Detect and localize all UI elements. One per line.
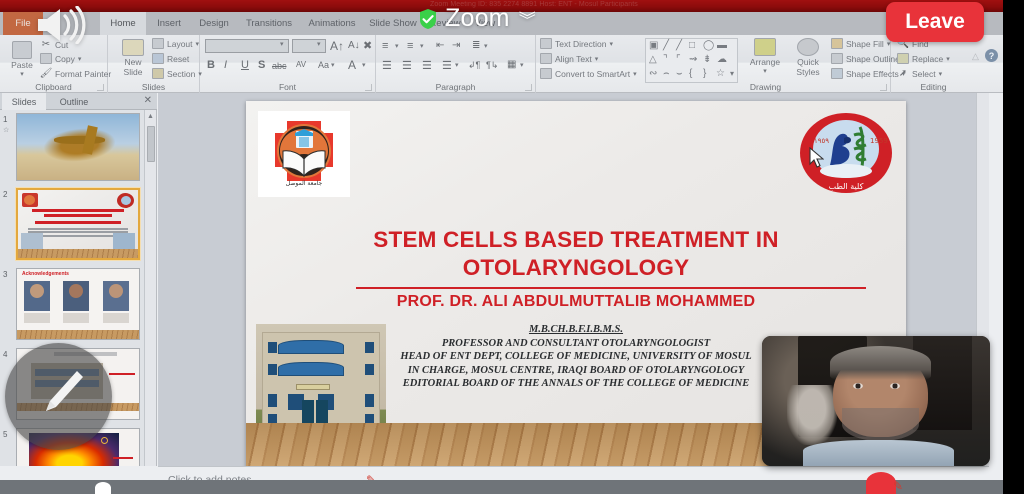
tab-outline[interactable]: Outline	[48, 93, 100, 110]
layout-icon	[152, 38, 164, 49]
arc-shape-icon[interactable]: ⌣	[676, 69, 683, 79]
paste-button[interactable]: Paste ▾	[6, 41, 38, 80]
pencil-icon	[33, 367, 85, 423]
select-button[interactable]: ➚ Select ▾	[897, 68, 942, 79]
scrollbar-thumb[interactable]	[147, 126, 155, 162]
star-icon: ☆	[3, 126, 9, 134]
shapes-more-icon[interactable]: ▾	[730, 69, 734, 79]
ribbon-group-drawing: ▣ ╱ ╱ □ ◯ ▬ △ ⌝ ⌜ ⇝ ⇟ ☁ ∾ ⌢ ⌣ { }	[641, 35, 891, 93]
paste-icon	[12, 41, 32, 59]
align-center-button[interactable]: ☰	[402, 59, 412, 72]
font-family-combo[interactable]	[205, 39, 289, 53]
textbox-shape-icon[interactable]: ▣	[649, 41, 658, 51]
convert-to-smartart-button[interactable]: Convert to SmartArt ▾	[540, 68, 637, 79]
group-label-slides: Slides	[108, 82, 199, 92]
slide-number: 2	[3, 190, 7, 199]
svg-text:كلية الطب: كلية الطب	[829, 182, 864, 191]
columns-caret-icon: ▾	[520, 61, 524, 69]
tab-slides[interactable]: Slides	[2, 93, 46, 110]
arrange-icon	[754, 38, 776, 56]
slide-title: STEM CELLS BASED TREATMENT IN OTOLARYNGO…	[286, 226, 866, 282]
paragraph-dialog-launcher[interactable]	[525, 84, 532, 91]
text-direction-caret-icon: ▾	[610, 40, 614, 48]
arrange-button[interactable]: Arrange ▾	[745, 38, 785, 77]
line-spacing-caret-icon: ▾	[484, 42, 488, 50]
font-size-caret-icon: ▾	[317, 40, 321, 48]
group-label-paragraph: Paragraph	[376, 82, 535, 92]
annotate-pen-icon[interactable]: ✎	[893, 479, 903, 493]
participant-video-thumbnail[interactable]	[762, 336, 990, 466]
shapes-gallery[interactable]: ▣ ╱ ╱ □ ◯ ▬ △ ⌝ ⌜ ⇝ ⇟ ☁ ∾ ⌢ ⌣ { }	[645, 38, 738, 83]
replace-button[interactable]: Replace ▾	[897, 53, 950, 64]
tab-insert[interactable]: Insert	[148, 12, 190, 35]
down-arrow-shape-icon[interactable]: ⇟	[703, 55, 711, 65]
ribbon-group-slides: New Slide Layout ▾ Reset Section ▾ S	[108, 35, 200, 93]
pane-tab-bar: Slides Outline ✕	[0, 93, 157, 110]
slide-number: 1	[3, 115, 7, 124]
layout-button[interactable]: Layout ▾	[152, 38, 199, 49]
zoom-share-indicator[interactable]: Zoom ︾	[418, 6, 536, 31]
tab-animations[interactable]: Animations	[302, 12, 362, 35]
elbow-connector2-icon[interactable]: ⌜	[676, 55, 681, 65]
group-label-editing: Editing	[891, 82, 976, 92]
list-item[interactable]: 2	[0, 188, 144, 264]
decrease-font-size-button[interactable]: A↓	[348, 40, 360, 51]
right-arrow-shape-icon[interactable]: ⇝	[689, 55, 697, 65]
right-brace-shape-icon[interactable]: }	[703, 69, 706, 79]
change-case-button[interactable]: Aa	[318, 60, 329, 70]
webcam-eye-right	[890, 383, 900, 389]
title-divider	[356, 287, 866, 289]
tab-design[interactable]: Design	[192, 12, 236, 35]
screen-letterbox-right	[1003, 0, 1024, 494]
line-spacing-button[interactable]: ≣	[472, 40, 480, 51]
font-color-caret-icon: ▾	[362, 61, 366, 69]
format-painter-button[interactable]: 🖌 Format Painter	[40, 68, 111, 79]
strikethrough-button[interactable]: abc	[272, 61, 287, 71]
thumbnail-slide-1[interactable]	[16, 113, 140, 181]
chevron-down-icon[interactable]: ︾	[519, 6, 536, 31]
italic-button[interactable]: I	[224, 59, 227, 71]
bold-button[interactable]: B	[207, 59, 215, 71]
freeform-shape-icon[interactable]: ∾	[649, 69, 657, 79]
select-caret-icon: ▾	[939, 70, 943, 78]
reset-icon	[152, 53, 164, 64]
numbering-caret-icon: ▾	[420, 42, 424, 50]
record-indicator	[866, 472, 896, 494]
copy-caret-icon: ▾	[78, 55, 82, 63]
line-shape-icon[interactable]: ╱	[663, 41, 669, 51]
list-item[interactable]: 3 Acknowledgements	[0, 268, 144, 344]
star-shape-icon[interactable]: ☆	[716, 69, 725, 79]
ribbon-group-editing: 🔍 Find Replace ▾ ➚ Select ▾ Editing	[891, 35, 976, 93]
svg-text:1959: 1959	[870, 137, 888, 145]
paintbrush-icon: 🖌	[40, 68, 52, 79]
group-label-drawing: Drawing	[641, 82, 890, 92]
slide-number: 5	[3, 430, 7, 439]
left-brace-shape-icon[interactable]: {	[689, 69, 692, 79]
minimize-ribbon-icon[interactable]: △	[972, 51, 981, 60]
increase-font-size-button[interactable]: A↑	[330, 39, 344, 53]
mouse-cursor	[809, 147, 824, 168]
close-icon[interactable]: ✕	[144, 95, 152, 106]
tab-slide-show[interactable]: Slide Show	[364, 12, 422, 35]
quick-styles-button[interactable]: Quick Styles	[789, 38, 827, 77]
webcam-shirt	[803, 440, 953, 466]
curve-shape-icon[interactable]: ⌢	[663, 69, 670, 79]
decrease-indent-button[interactable]: ⇤	[436, 40, 444, 51]
paste-caret-icon: ▾	[20, 70, 24, 80]
new-slide-icon	[122, 39, 144, 56]
copy-icon	[40, 53, 52, 64]
clipboard-dialog-launcher[interactable]	[97, 84, 104, 91]
slide-title-line1: STEM CELLS BASED TREATMENT IN	[286, 226, 866, 254]
section-button[interactable]: Section ▾	[152, 68, 202, 79]
character-spacing-button[interactable]: AV	[296, 60, 306, 69]
justify-caret-icon: ▾	[455, 61, 459, 69]
replace-icon	[897, 53, 909, 64]
font-dialog-launcher[interactable]	[365, 84, 372, 91]
text-direction-icon	[540, 38, 552, 49]
slide-author: PROF. DR. ALI ABDULMUTTALIB MOHAMMED	[276, 293, 876, 311]
rectangle-shape-icon[interactable]: □	[689, 41, 695, 51]
thumb2-art	[18, 190, 138, 258]
cursor-select-icon: ➚	[897, 68, 909, 79]
section-icon	[152, 68, 164, 79]
ribbon-group-font: ▾ ▾ A↑ A↓ ✖ B I U S abc AV Aa ▾ A ▾ Font	[200, 35, 376, 93]
slide-title-line2: OTOLARYNGOLOGY	[286, 254, 866, 282]
align-left-button[interactable]: ☰	[382, 59, 392, 72]
clear-formatting-icon[interactable]: ✖	[363, 39, 372, 52]
zoom-screen-share-window: Zoom Meeting ID: 835 2274 8891 Host: ENT…	[0, 0, 1024, 494]
svg-text:جامعة الموصل: جامعة الموصل	[286, 180, 323, 187]
new-slide-button[interactable]: New Slide	[116, 39, 150, 77]
shape-fill-icon	[831, 38, 843, 49]
ribbon-group-paragraph: ≡ ▾ ≡ ▾ ⇤ ⇥ ≣ ▾ ☰ ☰ ☰ ☰ ▾ ↲¶ ¶↳ ▦ ▾ Para…	[376, 35, 536, 93]
layout-caret-icon: ▾	[196, 40, 200, 48]
reset-button[interactable]: Reset	[152, 53, 189, 64]
webcam-eye-left	[853, 383, 863, 389]
thumbnail-pane-scrollbar[interactable]: ▲	[144, 110, 156, 466]
slide-number: 3	[3, 270, 7, 279]
group-label-font: Font	[200, 82, 375, 92]
thumb1-art	[17, 114, 139, 180]
underline-button[interactable]: U	[241, 59, 249, 71]
font-family-caret-icon: ▾	[280, 40, 284, 48]
elbow-connector-icon[interactable]: ⌝	[663, 55, 668, 65]
slide-number: 4	[3, 350, 7, 359]
align-text-caret-icon: ▾	[595, 55, 599, 63]
columns-button[interactable]: ▦	[507, 59, 516, 70]
magnifier-pencil-icon[interactable]	[5, 343, 112, 450]
group-label-clipboard: Clipboard	[0, 82, 107, 92]
increase-indent-button[interactable]: ⇥	[452, 40, 460, 51]
change-case-caret-icon: ▾	[331, 61, 335, 69]
tab-transitions[interactable]: Transitions	[238, 12, 300, 35]
smartart-icon	[540, 68, 552, 79]
tab-home[interactable]: Home	[100, 12, 146, 35]
rtl-direction-button[interactable]: ↲¶	[468, 60, 480, 71]
arrange-caret-icon: ▾	[763, 67, 767, 77]
thumbnail-slide-3[interactable]: Acknowledgements	[16, 268, 140, 340]
align-right-button[interactable]: ☰	[422, 59, 432, 72]
align-text-button[interactable]: Align Text ▾	[540, 53, 598, 64]
thumb3-heading: Acknowledgements	[22, 271, 69, 277]
cloud-shape-icon[interactable]: ☁	[717, 55, 727, 65]
shape-effects-icon	[831, 68, 843, 79]
text-direction-button[interactable]: Text Direction ▾	[540, 38, 613, 49]
svg-text:١٩٥٩: ١٩٥٩	[814, 137, 829, 145]
shield-check-icon	[418, 8, 438, 30]
quick-styles-icon	[797, 38, 819, 56]
bullets-button[interactable]: ≡	[382, 40, 388, 52]
oval-shape-icon[interactable]: ◯	[703, 41, 714, 51]
replace-caret-icon: ▾	[946, 55, 950, 63]
thumb3-art: Acknowledgements	[17, 269, 139, 339]
numbering-button[interactable]: ≡	[407, 40, 413, 52]
bullets-caret-icon: ▾	[395, 42, 399, 50]
university-of-mosul-emblem: جامعة الموصل	[258, 111, 350, 197]
webcam-hair	[830, 346, 930, 380]
shape-outline-icon	[831, 53, 843, 64]
ribbon-group-paragraph-extra: Text Direction ▾ Align Text ▾ Convert to…	[536, 35, 641, 93]
list-item[interactable]: 1 ☆	[0, 113, 144, 185]
smartart-caret-icon: ▾	[633, 70, 637, 78]
shape-fill-button[interactable]: Shape Fill ▾	[831, 38, 890, 49]
font-color-button[interactable]: A	[348, 58, 356, 72]
triangle-shape-icon[interactable]: △	[649, 55, 657, 65]
rounded-rect-shape-icon[interactable]: ▬	[717, 41, 727, 51]
leave-button[interactable]: Leave	[886, 2, 984, 42]
zoom-label: Zoom	[445, 6, 510, 31]
align-text-icon	[540, 53, 552, 64]
ltr-direction-button[interactable]: ¶↳	[486, 60, 498, 71]
annotate-bubble	[95, 482, 111, 494]
webcam-side-hair	[787, 385, 837, 445]
arrow-shape-icon[interactable]: ╱	[676, 41, 682, 51]
copy-button[interactable]: Copy ▾	[40, 53, 81, 64]
thumbnail-slide-2[interactable]	[16, 188, 140, 260]
mosul-emblem-svg: جامعة الموصل	[263, 115, 345, 193]
ribbon: Paste ▾ ✂ Cut Copy ▾ 🖌 Format Painter Cl…	[0, 35, 1003, 93]
text-shadow-button[interactable]: S	[258, 59, 265, 71]
scroll-up-arrow[interactable]: ▲	[147, 113, 154, 120]
justify-button[interactable]: ☰	[442, 59, 452, 72]
speaker-volume-icon	[32, 6, 94, 44]
drawing-dialog-launcher[interactable]	[880, 84, 887, 91]
help-question-icon[interactable]: ?	[985, 49, 998, 62]
